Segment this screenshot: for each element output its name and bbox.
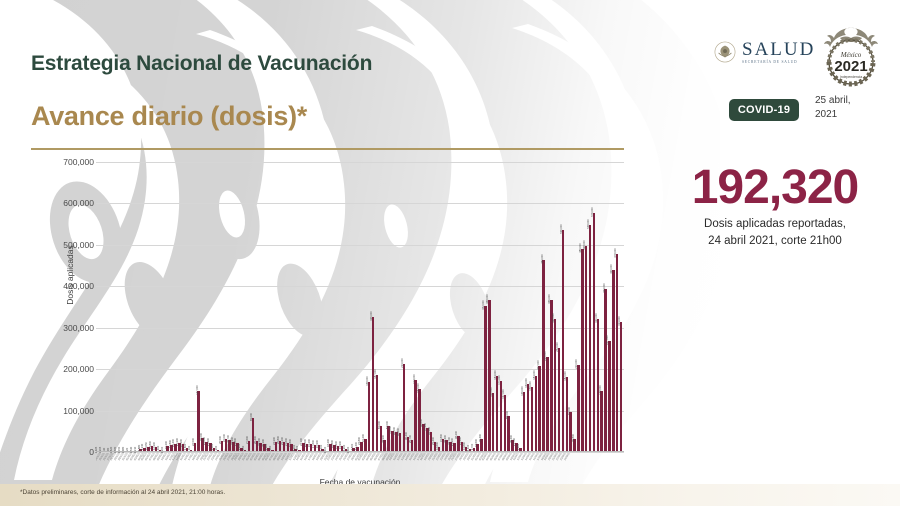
- x-axis-line: [96, 451, 624, 452]
- total-doses-value: 192,320: [650, 160, 900, 215]
- slide-date: 25 abril, 2021: [815, 94, 885, 121]
- bar-value-label: 36,400: [405, 432, 408, 440]
- bar-value-label: 66,800: [420, 419, 423, 427]
- bar-value-label: 24,800: [358, 437, 361, 445]
- bar-value-label: 21,300: [176, 438, 179, 446]
- bar-value-label: 171,000: [498, 375, 501, 384]
- bar-value-label: 21,700: [513, 438, 516, 446]
- bar-value-label: 320,000: [595, 314, 598, 323]
- bar-value-label: 322,000: [552, 313, 555, 322]
- bar-value-label: 184,000: [533, 370, 536, 379]
- bar: 158,000: [531, 387, 533, 452]
- bar-value-label: 31,000: [223, 434, 226, 442]
- bar-value-label: 352,000: [482, 300, 485, 309]
- bar-value-label: 207,000: [537, 361, 540, 370]
- bar-value-label: 174,000: [413, 374, 416, 383]
- bar-value-label: 9,700: [471, 444, 474, 451]
- bar-column: 313,000: [619, 162, 623, 452]
- bar-value-label: 8,900: [517, 444, 520, 451]
- bar-value-label: 9,800: [184, 444, 187, 451]
- bar: 88,000: [507, 416, 509, 452]
- bar-value-label: 19,400: [172, 439, 175, 447]
- bar-value-label: 31,800: [440, 434, 443, 442]
- bar: 83,000: [252, 418, 254, 452]
- footer-bar: *Datos preliminares, corte de informació…: [0, 484, 900, 506]
- page-title: Estrategia Nacional de Vacunación: [31, 52, 372, 76]
- bar: 498,000: [585, 246, 587, 452]
- bar: 322,000: [554, 319, 556, 452]
- bar: 184,000: [535, 376, 537, 452]
- bar-value-label: 28,700: [227, 435, 230, 443]
- bar: 163,000: [527, 384, 529, 452]
- bar-value-label: 313,000: [618, 317, 621, 326]
- footnote-text: *Datos preliminares, corte de informació…: [20, 489, 225, 496]
- bar: 229,000: [546, 357, 548, 452]
- y-axis-tick-label: 600,000: [36, 198, 94, 208]
- bar: 326,000: [372, 317, 374, 452]
- bar-value-label: 22,500: [192, 438, 195, 446]
- salud-subtitle: SECRETARÍA DE SALUD: [742, 61, 815, 65]
- bar-value-label: 394,000: [603, 283, 606, 292]
- bar-value-label: 137,000: [502, 390, 505, 399]
- total-doses-caption: Dosis aplicadas reportadas, 24 abril 202…: [650, 216, 900, 249]
- bar-value-label: 142,000: [490, 387, 493, 396]
- bar-value-label: 23,100: [281, 437, 284, 445]
- bar-value-label: 27,600: [246, 436, 249, 444]
- bar: 267,000: [608, 341, 610, 452]
- bar-value-label: 83,000: [250, 413, 253, 421]
- bar-value-label: 267,000: [606, 336, 609, 345]
- bar-value-label: 8,800: [265, 444, 268, 451]
- caption-line-2: 24 abril 2021, corte 21h00: [650, 233, 900, 250]
- svg-text:2021: 2021: [834, 58, 867, 75]
- bar-value-label: 31,200: [362, 434, 365, 442]
- y-axis-tick-label: 200,000: [36, 364, 94, 374]
- bar-value-label: 15,400: [335, 441, 338, 449]
- bar-value-label: 63,000: [378, 421, 381, 429]
- bar-value-label: 15,200: [165, 441, 168, 449]
- bar-value-label: 19,800: [289, 439, 292, 447]
- bar-value-label: 49,500: [393, 427, 396, 435]
- mexico-2021-independencia-logo: México 2021 Independencia: [818, 26, 884, 88]
- bar: 366,000: [550, 300, 552, 452]
- bar: 137,000: [504, 395, 506, 452]
- bar-value-label: 18,200: [327, 440, 330, 448]
- bar-value-label: 187,000: [374, 369, 377, 378]
- header-logos: SALUD SECRETARÍA DE SALUD México 2021 In…: [714, 32, 890, 90]
- bar: 536,000: [562, 230, 564, 452]
- bar-value-label: 97,000: [568, 407, 571, 415]
- bar-value-label: 17,600: [312, 440, 315, 448]
- bar-value-label: 168,000: [366, 377, 369, 386]
- bar-value-label: 11,800: [463, 442, 466, 450]
- bar-value-label: 9,240: [141, 444, 144, 451]
- salud-word: SALUD: [742, 40, 815, 59]
- bar: 207,000: [538, 366, 540, 452]
- bar: 489,000: [581, 249, 583, 452]
- bar: 147,000: [197, 391, 199, 452]
- bar-value-label: 26,500: [219, 436, 222, 444]
- title-divider: [31, 148, 624, 150]
- bar-value-label: 182,000: [564, 371, 567, 380]
- caption-line-1: Dosis aplicadas reportadas,: [650, 216, 900, 233]
- bar-value-label: 38,200: [455, 431, 458, 439]
- bar-value-label: 21,600: [285, 438, 288, 446]
- bar: 146,000: [523, 392, 525, 452]
- bar-value-label: 15,900: [316, 440, 319, 448]
- slide-date-line1: 25 abril,: [815, 94, 885, 108]
- bar-value-label: 28,900: [382, 435, 385, 443]
- bar-value-label: 9,400: [238, 444, 241, 451]
- bar: 352,000: [484, 306, 486, 452]
- bar-value-label: 498,000: [583, 240, 586, 249]
- bar-value-label: 163,000: [525, 379, 528, 388]
- bar: 548,000: [589, 225, 591, 452]
- bar-value-label: 148,000: [599, 385, 602, 394]
- bar-value-label: 229,000: [544, 351, 547, 360]
- bar-value-label: 23,400: [432, 437, 435, 445]
- bar-value-label: 9,600: [351, 444, 354, 451]
- bar: 97,000: [569, 412, 571, 452]
- bar-value-label: 8,600: [211, 444, 214, 451]
- bar-value-label: 213,000: [401, 358, 404, 367]
- bar-value-label: 158,000: [529, 381, 532, 390]
- bar: 478,000: [616, 254, 618, 452]
- y-axis-tick-label: 700,000: [36, 157, 94, 167]
- bar-value-label: 24,100: [459, 437, 462, 445]
- bar: 187,000: [376, 375, 378, 452]
- bar-value-label: 22,100: [300, 438, 303, 446]
- y-axis-tick-label: 100,000: [36, 406, 94, 416]
- bar-value-label: 368,000: [486, 294, 489, 303]
- bar: 439,000: [612, 270, 614, 452]
- salud-logo: SALUD SECRETARÍA DE SALUD: [714, 40, 815, 65]
- salud-wordmark: SALUD SECRETARÍA DE SALUD: [742, 40, 815, 65]
- bar: 148,000: [600, 391, 602, 452]
- mexico-national-seal-icon: [714, 41, 736, 63]
- bar-value-label: 16,800: [331, 440, 334, 448]
- slide-date-line2: 2021: [815, 108, 885, 122]
- bar-value-label: 18,600: [475, 439, 478, 447]
- bar-value-label: 463,000: [541, 254, 544, 263]
- bar-value-label: 366,000: [548, 295, 551, 304]
- bar-value-label: 536,000: [560, 224, 563, 233]
- svg-text:Independencia: Independencia: [840, 75, 862, 79]
- bar-value-label: 326,000: [370, 311, 373, 320]
- bar-value-label: 548,000: [587, 219, 590, 228]
- slide-root: Estrategia Nacional de Vacunación Avance…: [0, 0, 900, 506]
- y-axis-tick-label: 400,000: [36, 281, 94, 291]
- bar-value-label: 51,000: [389, 426, 392, 434]
- bar-value-label: 21,800: [234, 438, 237, 446]
- plot-area: 2,9251,2055403801,6202,4803,1501,9808201…: [96, 162, 624, 452]
- bar-value-label: 49,100: [428, 427, 431, 435]
- bar: 368,000: [488, 300, 490, 452]
- bar-value-label: 26,400: [254, 436, 257, 444]
- bar-value-label: 489,000: [579, 244, 582, 253]
- page-subtitle: Avance diario (dosis)*: [31, 101, 307, 132]
- bar-value-label: 21,200: [207, 438, 210, 446]
- y-axis-tick-label: 0: [36, 447, 94, 457]
- bar-value-label: 184,000: [494, 370, 497, 379]
- y-axis-tick-label: 300,000: [36, 323, 94, 333]
- bar: 252,000: [558, 348, 560, 452]
- bar: 210,000: [577, 365, 579, 452]
- bar-value-label: 46,800: [397, 428, 400, 436]
- bar-value-label: 147,000: [196, 385, 199, 394]
- bar: 46,800: [399, 433, 401, 452]
- bar-value-label: 24,300: [273, 437, 276, 445]
- bar-value-label: 18,900: [180, 439, 183, 447]
- bar-value-label: 24,800: [203, 437, 206, 445]
- bar: 168,000: [368, 382, 370, 452]
- bar-value-label: 30,400: [479, 434, 482, 442]
- bar-value-label: 576,000: [591, 208, 594, 217]
- covid-19-badge: COVID-19: [729, 99, 799, 121]
- bar-value-label: 28,400: [444, 435, 447, 443]
- bar-value-label: 88,000: [506, 411, 509, 419]
- bar-value-label: 57,300: [424, 423, 427, 431]
- daily-doses-bar-chart: Dosis aplicadas 700,000600,000500,000400…: [24, 162, 624, 462]
- bar-value-label: 252,000: [556, 342, 559, 351]
- bar-value-label: 20,500: [304, 439, 307, 447]
- bar: 313,000: [620, 322, 622, 452]
- bar-value-label: 11,650: [145, 442, 148, 450]
- bar-value-label: 22,900: [258, 438, 261, 446]
- bar-value-label: 30,800: [572, 434, 575, 442]
- bar-value-label: 13,900: [339, 441, 342, 449]
- bar-value-label: 29,700: [409, 435, 412, 443]
- bar-value-label: 21,900: [451, 438, 454, 446]
- bar-value-label: 19,200: [308, 439, 311, 447]
- y-axis-tick-label: 500,000: [36, 240, 94, 250]
- bar-value-label: 13,800: [149, 441, 152, 449]
- bar-value-label: 439,000: [610, 264, 613, 273]
- bar-value-label: 12,600: [436, 442, 439, 450]
- y-axis-ticks: 700,000600,000500,000400,000300,000200,0…: [24, 162, 94, 452]
- bar-value-label: 152,000: [417, 383, 420, 392]
- bar: 184,000: [496, 376, 498, 452]
- bar-value-label: 478,000: [614, 248, 617, 257]
- bar-value-label: 12,900: [153, 442, 156, 450]
- bar: 394,000: [604, 289, 606, 452]
- bar-value-label: 146,000: [521, 386, 524, 395]
- bar-value-label: 25,800: [277, 436, 280, 444]
- bar: 142,000: [492, 393, 494, 452]
- bar-series: 2,9251,2055403801,6202,4803,1501,9808201…: [96, 162, 624, 452]
- bar: 576,000: [593, 213, 595, 452]
- bar-value-label: 210,000: [575, 359, 578, 368]
- bar-value-label: 8,400: [467, 444, 470, 451]
